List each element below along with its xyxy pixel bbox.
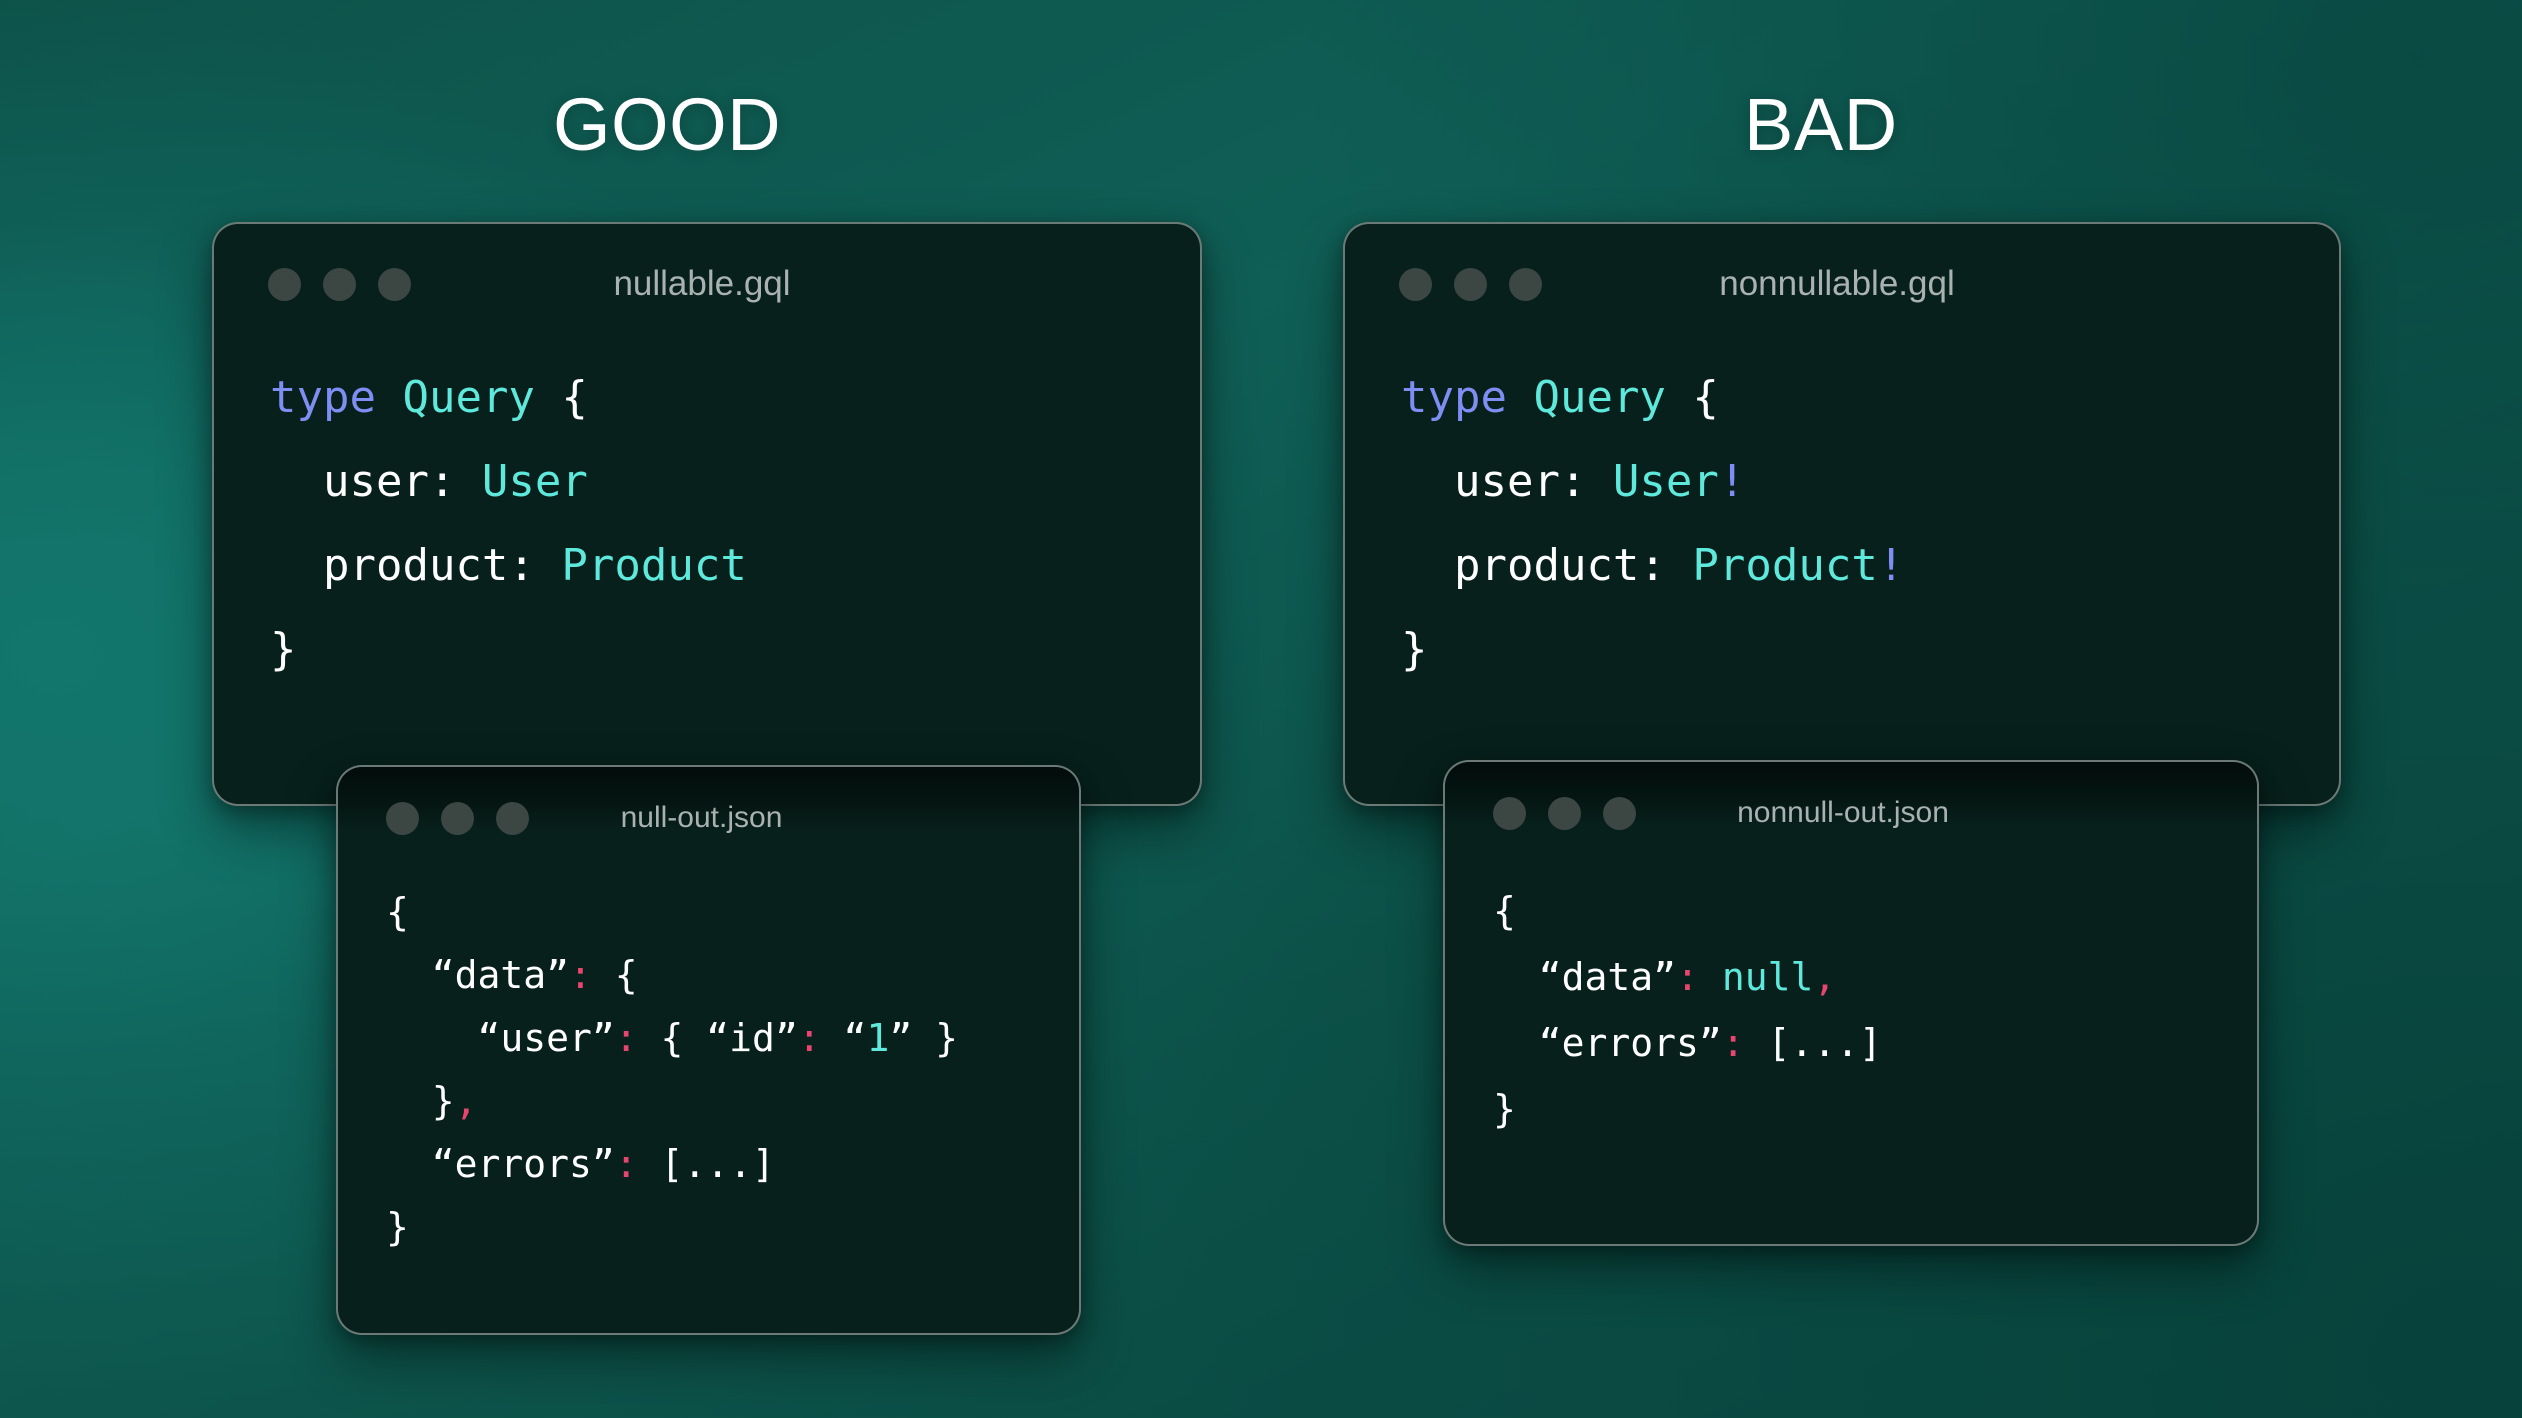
code-token: Query	[1533, 372, 1665, 423]
code-line: “data”: null,	[1493, 944, 2257, 1010]
code-token: “errors”	[386, 1142, 615, 1186]
code-token: user:	[1401, 456, 1613, 507]
code-token: “errors”	[1493, 1021, 1722, 1065]
code-token: User	[482, 456, 588, 507]
traffic-light-close-icon[interactable]	[268, 268, 301, 301]
code-token: type	[1401, 372, 1507, 423]
code-token: “user”	[386, 1016, 615, 1060]
code-token: [...]	[1745, 1021, 1882, 1065]
code-token: {	[535, 372, 588, 423]
traffic-light-minimize-icon[interactable]	[441, 802, 474, 835]
traffic-lights	[386, 802, 529, 835]
code-line: {	[386, 881, 1079, 944]
code-token: }	[1493, 1087, 1516, 1131]
code-block: { “data”: { “user”: { “id”: “1” } }, “er…	[338, 869, 1079, 1259]
code-window-null-out-json: null-out.json { “data”: { “user”: { “id”…	[336, 765, 1081, 1335]
code-token: Query	[402, 372, 534, 423]
code-token: “data”	[386, 953, 569, 997]
code-token	[1699, 955, 1722, 999]
code-token: User	[1613, 456, 1719, 507]
code-token: null	[1722, 955, 1814, 999]
traffic-light-close-icon[interactable]	[386, 802, 419, 835]
code-line: }	[386, 1196, 1079, 1259]
traffic-lights	[268, 268, 411, 301]
code-token: Product	[1692, 540, 1877, 591]
code-line: “errors”: [...]	[386, 1133, 1079, 1196]
code-token: {	[1666, 372, 1719, 423]
code-block: type Query { user: User product: Product…	[214, 344, 1200, 692]
column-heading-good: GOOD	[553, 82, 781, 167]
code-token: :	[615, 1016, 638, 1060]
code-token: :	[798, 1016, 821, 1060]
window-titlebar: null-out.json	[338, 767, 1079, 869]
code-token: “data”	[1493, 955, 1676, 999]
column-heading-bad: BAD	[1744, 82, 1898, 167]
code-line: “user”: { “id”: “1” }	[386, 1007, 1079, 1070]
traffic-lights	[1493, 797, 1636, 830]
traffic-light-maximize-icon[interactable]	[378, 268, 411, 301]
code-line: }	[1493, 1076, 2257, 1142]
code-line: “data”: {	[386, 944, 1079, 1007]
traffic-light-minimize-icon[interactable]	[1548, 797, 1581, 830]
code-token: }	[270, 624, 297, 675]
code-token: }	[386, 1205, 409, 1249]
code-token: }	[1401, 624, 1428, 675]
code-token: 1	[866, 1016, 889, 1060]
traffic-light-maximize-icon[interactable]	[1603, 797, 1636, 830]
code-window-nullable-gql: nullable.gql type Query { user: User pro…	[212, 222, 1202, 806]
code-token: {	[386, 890, 409, 934]
code-token: }	[386, 1079, 455, 1123]
code-token: :	[615, 1142, 638, 1186]
code-token: product:	[270, 540, 561, 591]
code-window-nonnull-out-json: nonnull-out.json { “data”: null, “errors…	[1443, 760, 2259, 1246]
code-line: type Query {	[1401, 356, 2339, 440]
code-token: “	[821, 1016, 867, 1060]
code-token: {	[1493, 889, 1516, 933]
traffic-lights	[1399, 268, 1542, 301]
code-token: :	[1722, 1021, 1745, 1065]
code-token: !	[1878, 540, 1905, 591]
traffic-light-maximize-icon[interactable]	[496, 802, 529, 835]
code-token	[1507, 372, 1534, 423]
code-token: ,	[455, 1079, 478, 1123]
code-token: type	[270, 372, 376, 423]
traffic-light-minimize-icon[interactable]	[323, 268, 356, 301]
code-block: { “data”: null, “errors”: [...]}	[1445, 864, 2257, 1142]
window-titlebar: nullable.gql	[214, 224, 1200, 344]
code-line: product: Product	[270, 524, 1200, 608]
code-token: {	[592, 953, 638, 997]
code-line: product: Product!	[1401, 524, 2339, 608]
code-block: type Query { user: User! product: Produc…	[1345, 344, 2339, 692]
comparison-graphic: GOOD BAD nullable.gql type Query { user:…	[0, 0, 2522, 1418]
traffic-light-minimize-icon[interactable]	[1454, 268, 1487, 301]
code-token: user:	[270, 456, 482, 507]
code-line: user: User!	[1401, 440, 2339, 524]
code-line: {	[1493, 878, 2257, 944]
code-token: :	[569, 953, 592, 997]
code-line: }	[270, 608, 1200, 692]
code-token: :	[1676, 955, 1699, 999]
code-line: },	[386, 1070, 1079, 1133]
code-token: ,	[1813, 955, 1836, 999]
code-token: { “id”	[638, 1016, 798, 1060]
code-token: product:	[1401, 540, 1692, 591]
code-token: !	[1719, 456, 1746, 507]
code-token: Product	[561, 540, 746, 591]
code-line: }	[1401, 608, 2339, 692]
code-token: ” }	[889, 1016, 958, 1060]
code-window-nonnullable-gql: nonnullable.gql type Query { user: User!…	[1343, 222, 2341, 806]
traffic-light-close-icon[interactable]	[1493, 797, 1526, 830]
window-titlebar: nonnull-out.json	[1445, 762, 2257, 864]
code-line: “errors”: [...]	[1493, 1010, 2257, 1076]
code-token	[376, 372, 403, 423]
window-titlebar: nonnullable.gql	[1345, 224, 2339, 344]
traffic-light-maximize-icon[interactable]	[1509, 268, 1542, 301]
code-line: user: User	[270, 440, 1200, 524]
traffic-light-close-icon[interactable]	[1399, 268, 1432, 301]
code-line: type Query {	[270, 356, 1200, 440]
code-token: [...]	[638, 1142, 775, 1186]
